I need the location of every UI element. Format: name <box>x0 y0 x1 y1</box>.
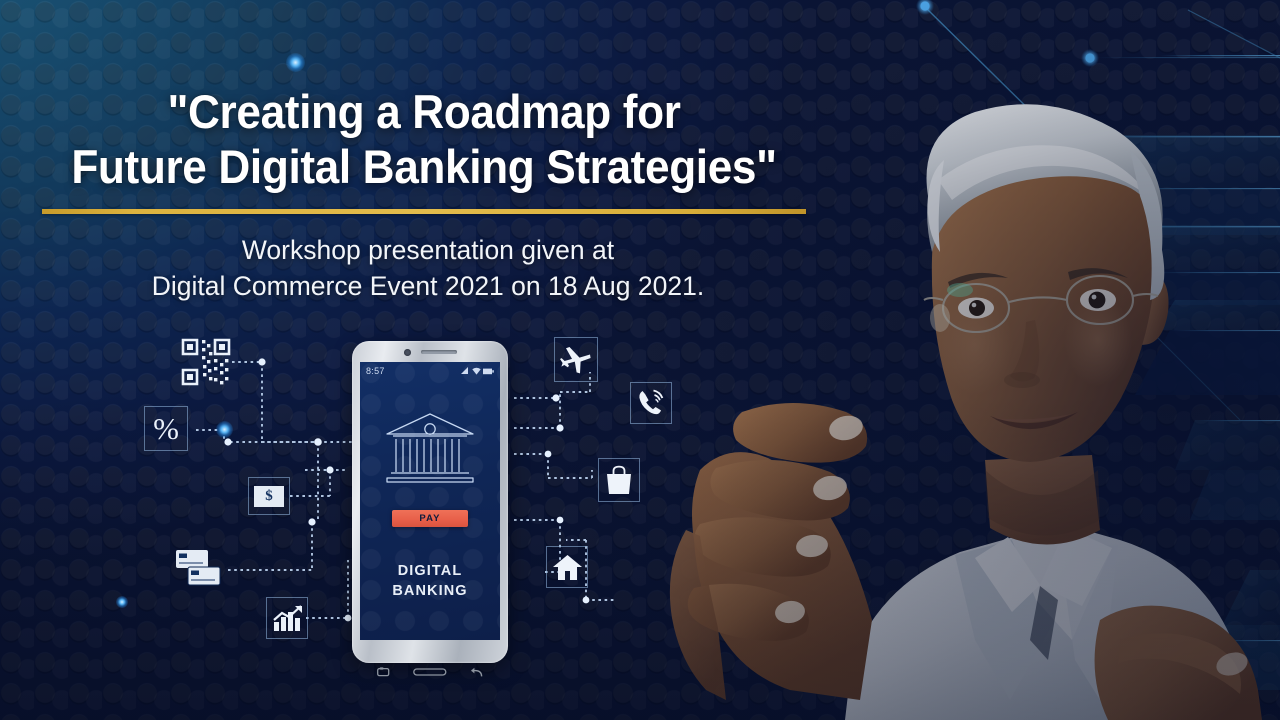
pay-button-label: PAY <box>419 513 440 524</box>
dollar-bill-body: $ <box>254 486 284 507</box>
percent-icon: % <box>144 406 188 451</box>
back-icon[interactable] <box>470 667 483 678</box>
app-name-label: DIGITAL BANKING <box>360 562 500 601</box>
percent-glyph: % <box>153 413 179 444</box>
status-bar-time: 8:57 <box>366 366 385 376</box>
app-name-line-1: DIGITAL <box>360 562 500 582</box>
phone-status-bar: 8:57 <box>360 364 500 378</box>
bank-building-icon <box>383 410 477 489</box>
credit-cards-icon <box>174 545 224 589</box>
status-bar-icons <box>461 367 494 375</box>
dollar-bill-icon: $ <box>248 477 290 515</box>
home-icon[interactable] <box>413 668 447 676</box>
recent-apps-icon[interactable] <box>377 667 390 677</box>
smartphone-mockup[interactable]: 8:57 <box>352 341 508 663</box>
signal-icon <box>461 367 469 375</box>
qr-code-icon <box>180 337 232 387</box>
wifi-icon <box>472 367 481 375</box>
app-name-line-2: BANKING <box>360 582 500 602</box>
dollar-glyph: $ <box>265 488 273 505</box>
front-camera-icon <box>404 349 411 356</box>
phone-call-icon <box>630 382 672 424</box>
earpiece-speaker <box>421 350 457 354</box>
home-house-icon <box>546 546 588 588</box>
shopping-bag-icon <box>598 458 640 502</box>
phone-nav-bar[interactable] <box>352 663 508 681</box>
battery-icon <box>483 368 494 375</box>
slide-canvas: "Creating a Roadmap for Future Digital B… <box>0 0 1280 720</box>
pay-button[interactable]: PAY <box>392 510 468 527</box>
airplane-icon <box>554 337 598 382</box>
bar-chart-growth-icon <box>266 597 308 639</box>
phone-screen[interactable]: 8:57 <box>360 362 500 640</box>
phone-notch <box>352 348 508 356</box>
